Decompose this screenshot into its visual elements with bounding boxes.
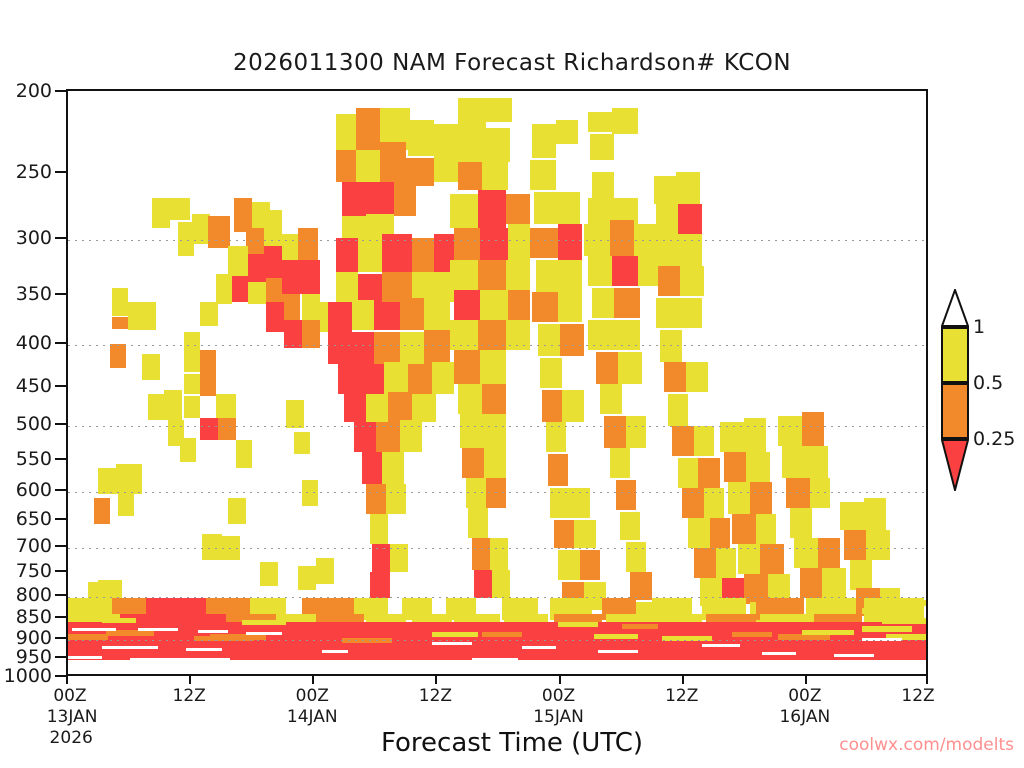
x-axis: 00Z13JAN202612Z00Z14JAN12Z00Z15JAN12Z00Z… <box>0 0 1024 768</box>
x-tick-label: 12Z <box>665 686 698 706</box>
x-tick-mark <box>189 676 191 684</box>
x-tick-label: 12Z <box>419 686 452 706</box>
x-tick-date: 14JAN <box>287 707 338 727</box>
x-tick-label: 00Z <box>53 686 86 706</box>
colorbar-label: 0.5 <box>973 372 1003 394</box>
x-tick-label: 00Z <box>542 686 575 706</box>
x-tick-mark <box>66 676 68 684</box>
colorbar-label: 1 <box>973 316 985 338</box>
x-tick-mark <box>559 676 561 684</box>
x-tick-label: 12Z <box>901 686 934 706</box>
x-tick-date: 16JAN <box>779 707 830 727</box>
x-tick-mark <box>682 676 684 684</box>
x-tick-label: 00Z <box>788 686 821 706</box>
colorbar-arrow-down <box>941 439 969 491</box>
chart-page: 2026011300 NAM Forecast Richardson# KCON… <box>0 0 1024 768</box>
x-tick-date: 13JAN <box>47 707 98 727</box>
x-tick-mark <box>435 676 437 684</box>
x-tick-mark <box>805 676 807 684</box>
x-tick-date: 15JAN <box>533 707 584 727</box>
watermark: coolwx.com/modelts <box>839 735 1014 755</box>
colorbar: 10.50.25 <box>941 289 969 487</box>
colorbar-segment <box>941 383 969 439</box>
colorbar-label: 0.25 <box>973 428 1015 450</box>
colorbar-arrow-up <box>941 289 969 327</box>
colorbar-segment <box>941 327 969 383</box>
x-tick-mark <box>312 676 314 684</box>
x-tick-label: 00Z <box>296 686 329 706</box>
x-tick-label: 12Z <box>173 686 206 706</box>
x-tick-mark <box>926 676 928 684</box>
